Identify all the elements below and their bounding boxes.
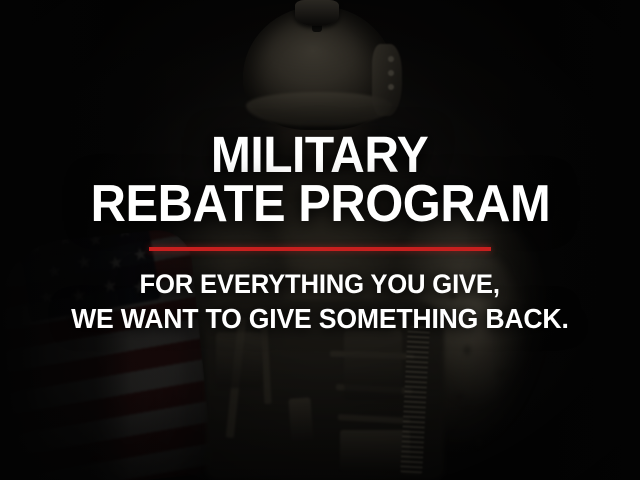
subheadline-line-2: WE WANT TO GIVE SOMETHING BACK.: [71, 303, 569, 335]
banner-text-overlay: MILITARY REBATE PROGRAM FOR EVERYTHING Y…: [0, 0, 640, 480]
subheadline-line-1: FOR EVERYTHING YOU GIVE,: [140, 269, 500, 300]
headline-line-1: MILITARY: [211, 131, 428, 180]
headline-line-2: REBATE PROGRAM: [90, 180, 550, 230]
red-divider-rule: [149, 247, 491, 251]
military-rebate-program-banner: ★ ★ ★ ★ ★ ★ ★ ★ ★ ★ ★ ★: [0, 0, 640, 480]
